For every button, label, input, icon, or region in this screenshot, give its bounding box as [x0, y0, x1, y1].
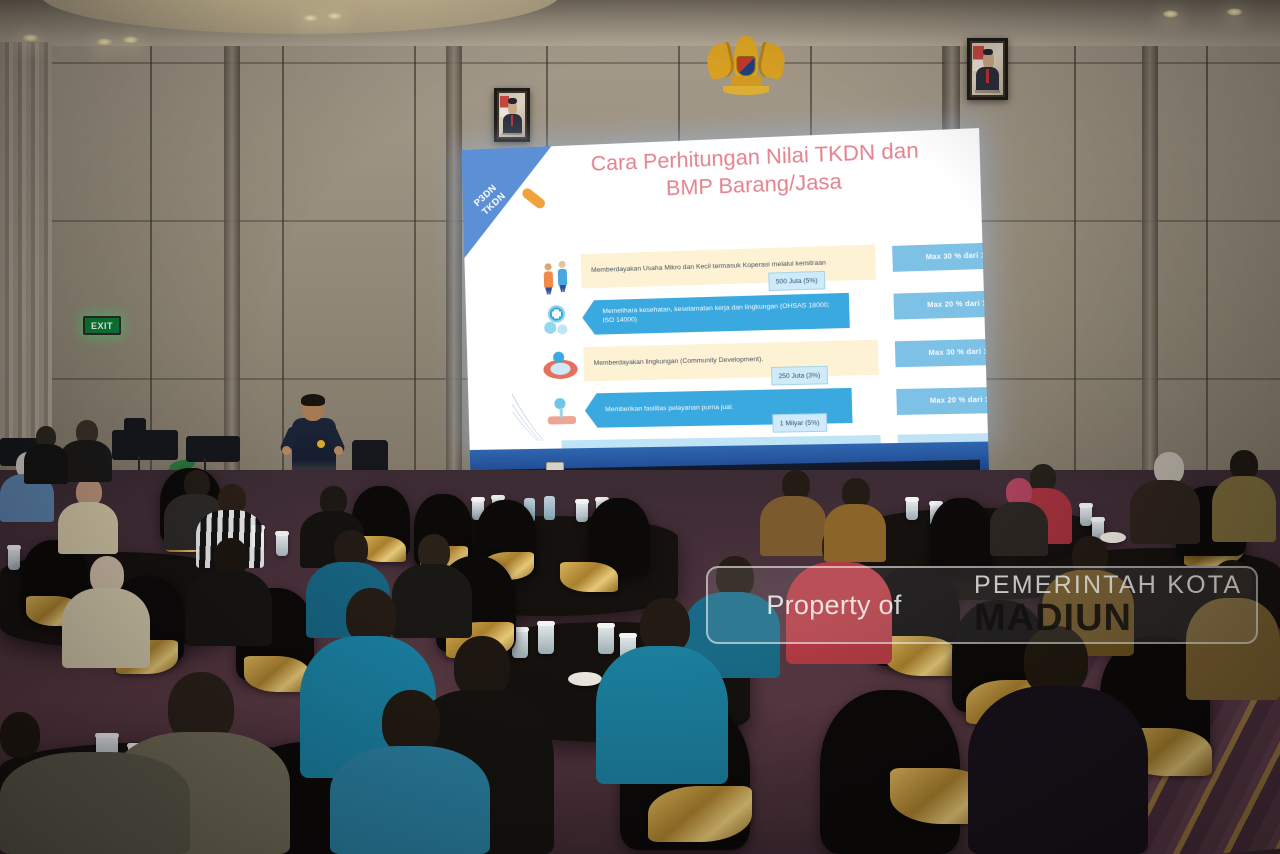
audience-person [968, 626, 1148, 854]
audience-person [330, 690, 490, 854]
screen-surface: P3DN TKDN Cara Perhitungan Nilai TKDN da… [461, 128, 988, 450]
person-blue [557, 261, 567, 293]
person-orange [543, 263, 553, 294]
photo-canvas: EXIT P3DN TKDN Cara Perhitungan Nilai TK… [0, 0, 1280, 854]
environment-icon [543, 349, 578, 386]
drinking-glass [276, 534, 288, 556]
slide-row-value: Max 30 % dari 15 % [892, 241, 988, 272]
two-people-icon [540, 256, 575, 293]
glass-lid [7, 545, 21, 550]
audience-person [0, 712, 190, 854]
camera-rig [124, 418, 146, 432]
ceiling-downlight [326, 12, 343, 20]
person-torso [990, 502, 1048, 556]
emblem-shield [737, 56, 756, 76]
slide-row-value: Max 30 % dari 15 % [895, 338, 988, 367]
camera-rig [186, 436, 240, 462]
glass-lid [471, 497, 485, 502]
portrait-tie [511, 115, 513, 126]
watermark-org: PEMERINTAH KOTA MADIUN [960, 573, 1256, 637]
audience-person [1212, 450, 1276, 542]
garuda-pancasila-emblem [707, 36, 785, 98]
portrait-image [499, 93, 525, 137]
audience-person [1130, 452, 1200, 544]
person-torso [596, 646, 728, 784]
audience-person [58, 478, 118, 554]
framed-portrait-right [967, 38, 1008, 100]
drinking-glass [576, 502, 588, 522]
drinking-glass [1080, 506, 1092, 526]
person-body [558, 269, 568, 285]
audience-person [990, 478, 1048, 556]
emblem-wing-left [704, 42, 737, 81]
person-body [544, 271, 553, 287]
portrait-cap [508, 98, 516, 103]
ceiling-cove-light [40, 0, 560, 34]
slide-row-text: Memberdayakan Usaha Mikro dan Kecil term… [581, 244, 877, 288]
watermark-org-line-1: PEMERINTAH KOTA [974, 573, 1256, 598]
wall-pillar [1142, 38, 1158, 508]
presenter-hand-left [282, 446, 291, 455]
person-legs [545, 287, 552, 294]
person-torso [62, 588, 150, 668]
watermark-property-of: Property of [708, 590, 960, 621]
portrait-nameplate [975, 90, 1000, 93]
after-sales-service-icon [544, 396, 579, 433]
ceiling-downlight [1162, 10, 1179, 18]
person-head [0, 712, 40, 758]
person-torso [330, 746, 490, 854]
portrait-image [972, 43, 1003, 95]
safety-dot [557, 324, 567, 334]
person-torso [968, 686, 1148, 854]
glass-lid [575, 499, 589, 504]
person-torso [0, 752, 190, 854]
person-torso [186, 570, 272, 646]
drinking-glass [8, 548, 20, 570]
banquet-chair [930, 498, 992, 574]
camera-rig [112, 430, 178, 460]
chair-sash-bow [648, 786, 752, 842]
glass-lid [275, 531, 289, 536]
slide-row: Memberikan fasilitas pelayanan purna jua… [544, 385, 973, 436]
slide-rows: Memberdayakan Usaha Mikro dan Kecil term… [540, 241, 974, 450]
slide-row-pill: 500 Juta (5%) [768, 271, 825, 291]
medical-cross [552, 311, 561, 316]
window-curtain [0, 42, 52, 462]
framed-portrait-left [494, 88, 530, 142]
presenter-hair [301, 394, 325, 406]
person-head [544, 263, 551, 270]
person-torso [24, 444, 68, 484]
portrait-nameplate [502, 133, 523, 135]
slide-row-pill: 250 Juta (3%) [771, 366, 828, 386]
slide-row-text: Memberdayakan lingkungan (Community Deve… [583, 340, 879, 382]
exit-sign-label: EXIT [91, 321, 113, 331]
person-legs [559, 285, 566, 292]
glass-lid [1091, 517, 1105, 522]
drinking-glass [906, 500, 918, 520]
glass-lid [905, 497, 919, 502]
projection-screen: P3DN TKDN Cara Perhitungan Nilai TKDN da… [461, 128, 989, 480]
audience-person [824, 478, 886, 562]
person-head [382, 690, 440, 754]
ceiling-downlight [122, 36, 139, 44]
ceiling-downlight [96, 38, 113, 46]
service-base [548, 416, 576, 425]
portrait-cap [983, 49, 993, 55]
portrait-tie [986, 69, 989, 83]
slide-row: Memberdayakan lingkungan (Community Deve… [543, 337, 971, 390]
presenter-badge-icon [317, 440, 325, 448]
safety-dot [544, 322, 556, 334]
slide-row-value: Max 20 % dari 15 % [896, 386, 988, 415]
slide-row-value: Max 20 % dari 15 % [893, 290, 988, 320]
slide-row-text: Memelihara kesehatan, keselamatan kerja … [582, 293, 850, 335]
person-torso [1212, 476, 1276, 542]
audience-person [62, 556, 150, 668]
emblem-ribbon [723, 86, 769, 95]
water-bottle [544, 496, 555, 520]
ceiling-downlight [302, 14, 319, 22]
slide-row: Memelihara kesehatan, keselamatan kerja … [542, 289, 970, 344]
slide-title: Cara Perhitungan Nilai TKDN dan BMP Bara… [539, 135, 974, 208]
emblem-wing-right [756, 42, 789, 81]
chair-sash-bow [560, 562, 618, 592]
audience-person [186, 538, 272, 646]
exit-sign: EXIT [83, 316, 121, 335]
glass-lid [537, 621, 555, 626]
person-torso [1130, 480, 1200, 544]
watermark-org-line-2: MADIUN [974, 599, 1256, 637]
watermark-badge: Property of PEMERINTAH KOTA MADIUN [706, 566, 1258, 644]
person-head [558, 261, 565, 268]
person-torso [824, 504, 886, 562]
slide-row: Memberdayakan Usaha Mikro dan Kecil term… [540, 241, 968, 297]
person-head [454, 636, 510, 698]
presenter-hand-right [334, 446, 343, 455]
ceiling [0, 0, 1280, 46]
glass-lid [1079, 503, 1093, 508]
presentation-slide: P3DN TKDN Cara Perhitungan Nilai TKDN da… [461, 128, 988, 450]
person-torso [58, 502, 118, 554]
health-safety-icon [542, 303, 577, 340]
audience-person [24, 426, 68, 484]
ceiling-downlight [22, 34, 39, 42]
ceiling-downlight [1226, 8, 1243, 16]
slide-row-pill: 1 Milyar (5%) [772, 413, 827, 433]
service-stem [560, 408, 563, 417]
